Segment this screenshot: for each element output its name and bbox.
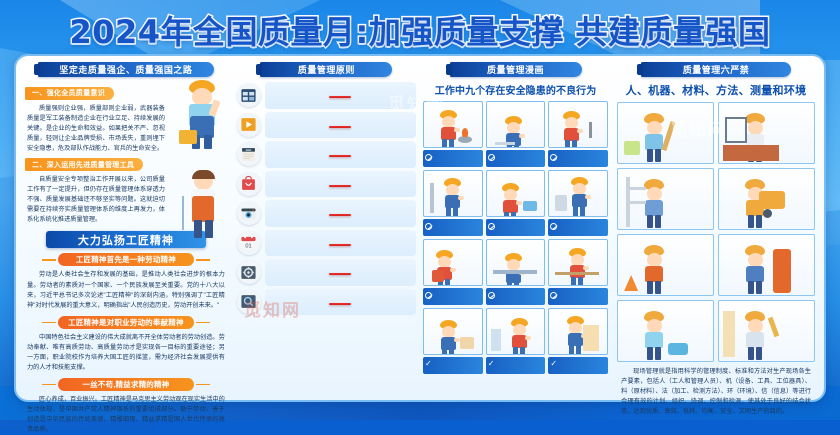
prohibition-icon [488, 223, 495, 230]
pill-text: 匠心养成，百业振兴。工匠精神是马克思主义劳动观在现实生活中的生动体现，是中国共产… [21, 393, 231, 435]
section-banner-col2: 质量管理原则 [260, 62, 392, 77]
comic-illustration [486, 239, 546, 286]
comic-cell[interactable] [486, 170, 546, 236]
comic-illustration [423, 308, 483, 355]
section-banner-col4: 质量管理六严禁 [641, 62, 791, 77]
ladder-scene[interactable] [617, 168, 714, 230]
principle-row[interactable] [237, 259, 416, 286]
column-six-prohibitions: 质量管理六严禁 人、机器、材料、方法、测量和环境 现场管理就是指用科学的管理制度… [613, 62, 819, 395]
principle-body [265, 112, 416, 139]
principle-body [265, 259, 416, 286]
comic-illustration [423, 170, 483, 217]
comic-cell[interactable] [423, 239, 483, 305]
column-quality-comics: 质量管理漫画 工作中九个存在安全隐患的不良行为 [422, 62, 609, 395]
column-quality-principles: 质量管理原则 01 [235, 62, 418, 395]
prohibition-icon [550, 292, 557, 299]
play-button-icon [237, 113, 261, 137]
craftsman-spirit-bar: 大力弘扬工匠精神 [46, 231, 206, 248]
principle-tag [329, 155, 351, 157]
worker-with-toolbox-illustration [177, 78, 229, 150]
comic-illustration [548, 170, 608, 217]
principle-row[interactable]: 01 [237, 230, 416, 257]
principle-body [265, 82, 416, 109]
principle-body [265, 171, 416, 198]
subsection-heading: 一、强化全员质量意识 [25, 87, 114, 100]
concrete-mixer-scene[interactable] [718, 168, 815, 230]
principle-row[interactable] [237, 171, 416, 198]
comic-caption [423, 288, 483, 305]
comic-caption [486, 288, 546, 305]
comic-cell[interactable] [548, 239, 608, 305]
principle-row[interactable] [237, 141, 416, 168]
comic-illustration [548, 308, 608, 355]
comic-cell[interactable] [548, 170, 608, 236]
section-banner-col3: 质量管理漫画 [450, 62, 582, 77]
principle-body [265, 289, 416, 316]
principle-row[interactable] [237, 289, 416, 316]
comic-caption [486, 219, 546, 236]
camera-icon [237, 201, 261, 225]
prohibition-icon [425, 154, 432, 161]
subsection-text: 自质量安全专项整治工作开展以来，公司质量工作有了一定提升，但仍存在质量管理体系穿… [21, 173, 171, 225]
check-icon [425, 361, 432, 368]
gear-icon [237, 260, 261, 284]
notebook-icon [237, 142, 261, 166]
svg-text:01: 01 [246, 244, 252, 250]
bricklayer-scene[interactable] [718, 102, 815, 164]
comic-cell[interactable] [423, 308, 483, 374]
comic-caption [423, 219, 483, 236]
principle-tag [329, 214, 351, 216]
principles-list: 01 [235, 82, 418, 315]
comic-cell[interactable] [423, 101, 483, 167]
painter-scene[interactable] [718, 300, 815, 362]
comic-caption [423, 357, 483, 374]
worker-with-mop-illustration [181, 170, 227, 240]
comic-cell[interactable] [423, 170, 483, 236]
pill-text: 劳动是人类社会生存和发展的基础，是推动人类社会进步的根本力量。劳动者的素质对一个… [21, 268, 231, 310]
comic-cell[interactable] [486, 101, 546, 167]
two-workers-scene[interactable] [718, 234, 815, 296]
comic-illustration [423, 239, 483, 286]
principle-tag [329, 126, 351, 128]
comic-cell[interactable] [486, 308, 546, 374]
comic-caption [548, 150, 608, 167]
principle-tag [329, 185, 351, 187]
principle-tag [329, 303, 351, 305]
comic-illustration [486, 308, 546, 355]
shopping-bag-icon [237, 172, 261, 196]
prohibition-icon [488, 154, 495, 161]
page-title: 2024年全国质量月:加强质量支撑 共建质量强国 [0, 7, 840, 53]
content-panel: 坚定走质量强企、质量强国之路 一、强化全员质量意识 质量强则企业强，质量部则企业… [14, 54, 826, 402]
comic-illustration [548, 239, 608, 286]
comic-caption [423, 150, 483, 167]
cleaning-worker-scene[interactable] [617, 300, 714, 362]
column-quality-strong-nation: 坚定走质量强企、质量强国之路 一、强化全员质量意识 质量强则企业强，质量部则企业… [21, 62, 231, 395]
worker-with-tool-scene[interactable] [617, 102, 714, 164]
comic-caption [548, 288, 608, 305]
pill-heading: 一丝不苟,精益求精的精神 [58, 378, 194, 391]
comics-heading: 工作中九个存在安全隐患的不良行为 [422, 82, 609, 97]
cone-worker-scene[interactable] [617, 234, 714, 296]
comic-caption [486, 150, 546, 167]
principle-tag [329, 273, 351, 275]
principle-tag [329, 244, 351, 246]
check-icon [488, 361, 495, 368]
check-icon [550, 361, 557, 368]
comic-illustration [423, 101, 483, 148]
comic-illustration [486, 170, 546, 217]
site-management-text: 现场管理就是指用科学的管理制度、标准和方法对生产现场各生产要素，包括人（工人和管… [613, 362, 819, 417]
principle-body [265, 200, 416, 227]
prohibitions-grid [613, 102, 819, 362]
prohibition-icon [550, 223, 557, 230]
comic-cell[interactable] [548, 101, 608, 167]
principle-body [265, 141, 416, 168]
comic-caption [548, 357, 608, 374]
comic-caption [486, 357, 546, 374]
prohibition-icon [425, 223, 432, 230]
magnifier-icon [237, 290, 261, 314]
six-elements-heading: 人、机器、材料、方法、测量和环境 [613, 82, 819, 98]
comic-caption [548, 219, 608, 236]
pill-text: 中国特色社会主义建设的伟大成就离不开全体劳动者的劳动创造。劳动奉献、唯有高质劳动… [21, 331, 231, 373]
principle-tag [329, 96, 351, 98]
comic-illustration [548, 101, 608, 148]
calendar-icon: 01 [237, 231, 261, 255]
comic-cell[interactable] [548, 308, 608, 374]
window-grid-icon [237, 83, 261, 107]
principle-row[interactable] [237, 112, 416, 139]
pill-heading: 工匠精神是对职业劳动的奉献精神 [58, 316, 194, 329]
prohibition-icon [488, 292, 495, 299]
pill-heading: 工匠精神首先是一种劳动精神 [58, 253, 194, 266]
comics-grid [422, 101, 609, 374]
principle-row[interactable] [237, 82, 416, 109]
principle-body [265, 230, 416, 257]
principle-row[interactable] [237, 200, 416, 227]
comic-illustration [486, 101, 546, 148]
prohibition-icon [425, 292, 432, 299]
header: 2024年全国质量月:加强质量支撑 共建质量强国 [0, 0, 840, 52]
comic-cell[interactable] [486, 239, 546, 305]
subsection-heading: 二、深入运用先进质量管理工具 [25, 158, 143, 171]
subsection-text: 质量强则企业强，质量部则企业弱，武器装备质量是军工装备制造企业在行业立足、持续发… [21, 102, 171, 154]
section-banner-col1: 坚定走质量强企、质量强国之路 [38, 62, 214, 77]
prohibition-icon [550, 154, 557, 161]
